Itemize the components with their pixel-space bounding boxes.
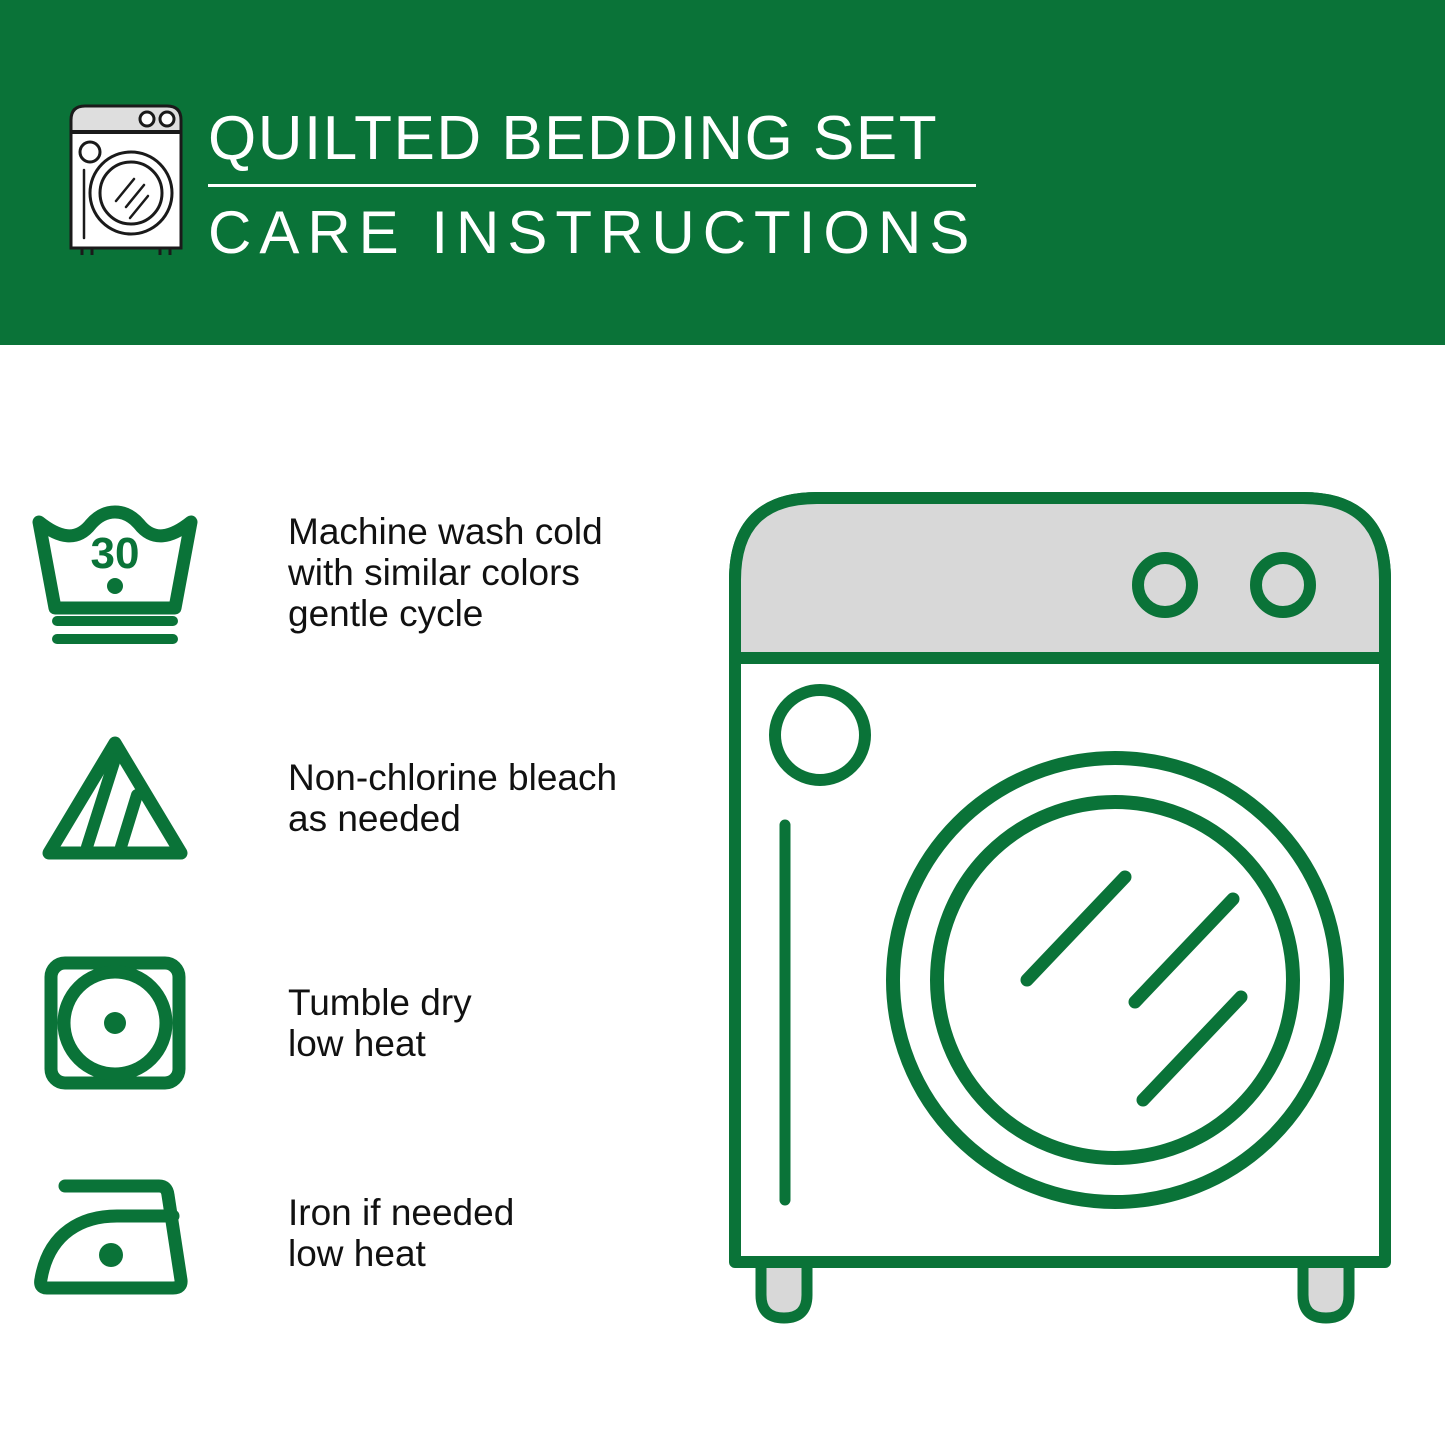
front-load-washing-machine-illustration bbox=[725, 480, 1395, 1350]
care-label-line-2: with similar colors bbox=[288, 552, 603, 593]
wash-temperature-value: 30 bbox=[91, 529, 140, 578]
care-label-line-2: low heat bbox=[288, 1023, 472, 1064]
tumble-dry-low-icon bbox=[0, 940, 230, 1105]
header-banner: QUILTED BEDDING SET CARE INSTRUCTIONS bbox=[0, 0, 1445, 345]
care-label-line-1: Non-chlorine bleach bbox=[288, 757, 617, 798]
care-row-machine-wash: 30 Machine wash cold with similar colors… bbox=[0, 490, 700, 655]
care-row-tumble-dry: Tumble dry low heat bbox=[0, 940, 700, 1105]
care-row-iron: Iron if needed low heat bbox=[0, 1150, 700, 1315]
title-divider bbox=[208, 184, 976, 187]
bleach-triangle-icon bbox=[0, 715, 230, 880]
care-label-bleach: Non-chlorine bleach as needed bbox=[230, 757, 617, 839]
care-label-line-1: Tumble dry bbox=[288, 982, 472, 1023]
care-label-line-1: Machine wash cold bbox=[288, 511, 603, 552]
care-row-bleach: Non-chlorine bleach as needed bbox=[0, 715, 700, 880]
iron-low-heat-icon bbox=[0, 1150, 230, 1315]
care-label-line-1: Iron if needed bbox=[288, 1192, 514, 1233]
header-text-block: QUILTED BEDDING SET CARE INSTRUCTIONS bbox=[208, 104, 998, 267]
page-title: QUILTED BEDDING SET bbox=[208, 104, 998, 174]
care-instructions-infographic: QUILTED BEDDING SET CARE INSTRUCTIONS 30… bbox=[0, 0, 1445, 1445]
care-label-line-2: low heat bbox=[288, 1233, 514, 1274]
care-label-tumble-dry: Tumble dry low heat bbox=[230, 982, 472, 1064]
care-label-machine-wash: Machine wash cold with similar colors ge… bbox=[230, 511, 603, 634]
care-label-line-2: as needed bbox=[288, 798, 617, 839]
page-subtitle: CARE INSTRUCTIONS bbox=[208, 199, 998, 267]
wash-tub-30-gentle-icon: 30 bbox=[0, 490, 230, 655]
care-label-line-3: gentle cycle bbox=[288, 593, 603, 634]
washing-machine-icon bbox=[62, 100, 190, 255]
care-label-iron: Iron if needed low heat bbox=[230, 1192, 514, 1274]
